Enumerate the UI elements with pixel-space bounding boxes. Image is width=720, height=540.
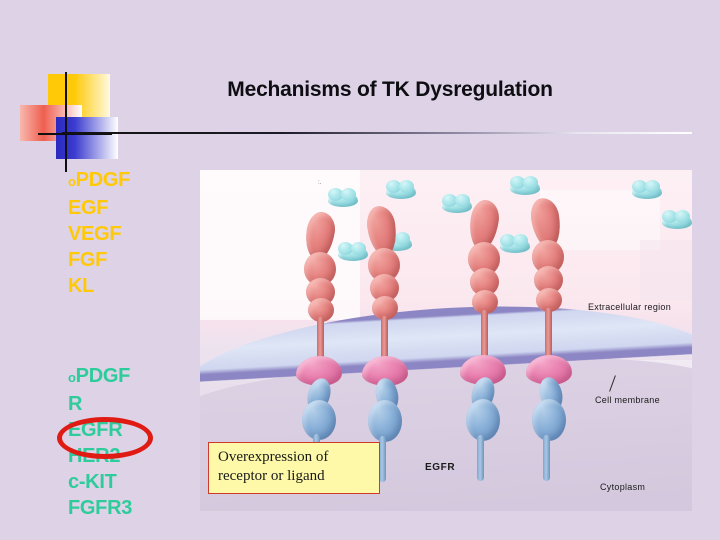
- receptor-tyrosine-kinase-diagram: :.: [200, 170, 692, 511]
- c-terminal-tail: [543, 435, 550, 481]
- c-terminal-tail: [379, 436, 386, 482]
- bound-ligand: [338, 246, 368, 261]
- logo-vertical-line: [65, 72, 67, 172]
- list-item-label: PDGF: [76, 169, 130, 191]
- list-item-label: EGF: [68, 197, 108, 219]
- bullet-marker-icon: o: [68, 370, 76, 385]
- ligand-molecule: [328, 192, 358, 207]
- egfr-label: EGFR: [425, 462, 455, 473]
- list-item: c-KIT: [68, 469, 188, 495]
- ligand-bullet-list: oPDGF EGF VEGF FGF KL: [68, 167, 188, 299]
- ligand-molecule: [510, 180, 540, 195]
- bound-ligand: [500, 238, 530, 253]
- list-item-label: VEGF: [68, 223, 121, 245]
- list-item-label: R: [68, 393, 82, 415]
- list-item-label: FGFR3: [68, 497, 132, 519]
- bullet-marker-icon: o: [68, 174, 76, 189]
- list-item-label: FGF: [68, 249, 107, 271]
- list-item-label: PDGF: [76, 365, 130, 387]
- ligand-molecule: [442, 198, 472, 213]
- list-item: VEGF: [68, 221, 188, 247]
- scan-speck: :.: [318, 180, 321, 186]
- list-item-wrap: R: [68, 391, 188, 417]
- cytoplasm-label: Cytoplasm: [600, 482, 645, 492]
- list-item: oPDGF: [68, 363, 188, 391]
- transmembrane-stalk: [545, 308, 552, 360]
- list-item: oPDGF: [68, 167, 188, 195]
- decorative-squares-logo: [20, 72, 125, 172]
- ligand-molecule: [632, 184, 662, 199]
- ligand-molecule: [662, 214, 692, 229]
- kinase-domain: [368, 400, 402, 442]
- extracellular-region-label: Extracellular region: [588, 302, 671, 312]
- page-title: Mechanisms of TK Dysregulation: [150, 78, 630, 102]
- kinase-domain: [466, 399, 500, 441]
- callout-line-1: Overexpression of: [218, 448, 371, 467]
- overexpression-callout: Overexpression of receptor or ligand: [208, 442, 380, 494]
- list-item-label: KL: [68, 275, 94, 297]
- slide-canvas: Mechanisms of TK Dysregulation oPDGF EGF…: [0, 0, 720, 540]
- cell-membrane-label: Cell membrane: [595, 395, 660, 405]
- list-item-label: c-KIT: [68, 471, 117, 493]
- figure-artifact-panel: [640, 240, 692, 300]
- c-terminal-tail: [477, 435, 484, 481]
- title-underline-rule: [62, 132, 692, 134]
- list-item: EGF: [68, 195, 188, 221]
- ligand-molecule: [386, 184, 416, 199]
- kinase-domain: [302, 400, 336, 440]
- egfr-highlight-ellipse: [57, 417, 153, 459]
- transmembrane-stalk: [481, 310, 488, 360]
- kinase-domain: [532, 399, 566, 441]
- list-item: KL: [68, 273, 188, 299]
- callout-line-2: receptor or ligand: [218, 467, 371, 486]
- list-item: FGF: [68, 247, 188, 273]
- list-item: FGFR3: [68, 495, 188, 521]
